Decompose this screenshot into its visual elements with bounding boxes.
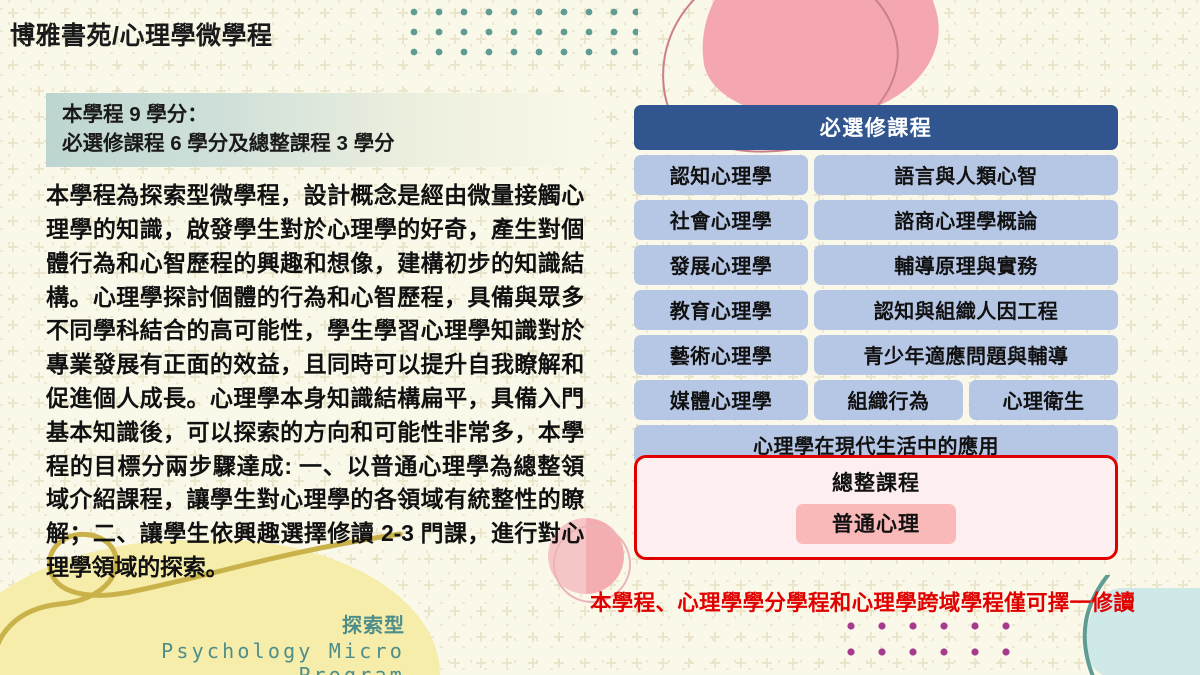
- course-row: 教育心理學 認知與組織人因工程: [634, 290, 1118, 330]
- course-row: 藝術心理學 青少年適應問題與輔導: [634, 335, 1118, 375]
- page-title: 博雅書苑/心理學微學程: [10, 16, 272, 52]
- credits-line-1: 本學程 9 學分：: [62, 100, 591, 129]
- course-row: 媒體心理學 組織行為 心理衛生: [634, 380, 1118, 420]
- course-pill[interactable]: 發展心理學: [634, 245, 808, 285]
- course-pill[interactable]: 諮商心理學概論: [814, 200, 1118, 240]
- brand-label-en: Psychology Micro Program: [100, 639, 405, 675]
- course-pill[interactable]: 教育心理學: [634, 290, 808, 330]
- capstone-course-box: 總整課程 普通心理: [634, 455, 1118, 560]
- required-courses-table: 必選修課程 認知心理學 語言與人類心智 社會心理學 諮商心理學概論 發展心理學 …: [634, 105, 1118, 465]
- course-pill[interactable]: 青少年適應問題與輔導: [814, 335, 1118, 375]
- course-pill[interactable]: 藝術心理學: [634, 335, 808, 375]
- exclusivity-warning-note: 本學程、心理學學分學程和心理學跨域學程僅可擇一修讀: [590, 586, 1135, 617]
- purple-dot-grid-decoration: [845, 620, 1025, 660]
- course-pill[interactable]: 語言與人類心智: [814, 155, 1118, 195]
- course-pill[interactable]: 認知心理學: [634, 155, 808, 195]
- course-pill[interactable]: 心理衛生: [969, 380, 1118, 420]
- course-row: 發展心理學 輔導原理與實務: [634, 245, 1118, 285]
- course-row: 認知心理學 語言與人類心智: [634, 155, 1118, 195]
- left-content-column: 本學程 9 學分： 必選修課程 6 學分及總整課程 3 學分 本學程為探索型微學…: [46, 93, 591, 585]
- course-pill[interactable]: 社會心理學: [634, 200, 808, 240]
- credits-line-2: 必選修課程 6 學分及總整課程 3 學分: [62, 129, 591, 158]
- course-row: 社會心理學 諮商心理學概論: [634, 200, 1118, 240]
- credits-summary-box: 本學程 9 學分： 必選修課程 6 學分及總整課程 3 學分: [46, 93, 591, 167]
- capstone-course-pill[interactable]: 普通心理: [796, 504, 956, 544]
- brand-label-zh: 探索型: [100, 615, 405, 637]
- course-pill[interactable]: 組織行為: [814, 380, 963, 420]
- capstone-title: 總整課程: [637, 467, 1115, 497]
- program-description-text: 本學程為探索型微學程，設計概念是經由微量接觸心理學的知識，啟發學生對於心理學的好…: [46, 179, 584, 585]
- slide-canvas: 博雅書苑/心理學微學程 本學程 9 學分： 必選修課程 6 學分及總整課程 3 …: [0, 0, 1200, 675]
- teal-dot-grid-decoration: [408, 6, 638, 56]
- program-brand-label: 探索型 Psychology Micro Program: [100, 615, 405, 675]
- course-pill[interactable]: 輔導原理與實務: [814, 245, 1118, 285]
- course-pill[interactable]: 媒體心理學: [634, 380, 808, 420]
- course-pill[interactable]: 認知與組織人因工程: [814, 290, 1118, 330]
- courses-table-header: 必選修課程: [634, 105, 1118, 150]
